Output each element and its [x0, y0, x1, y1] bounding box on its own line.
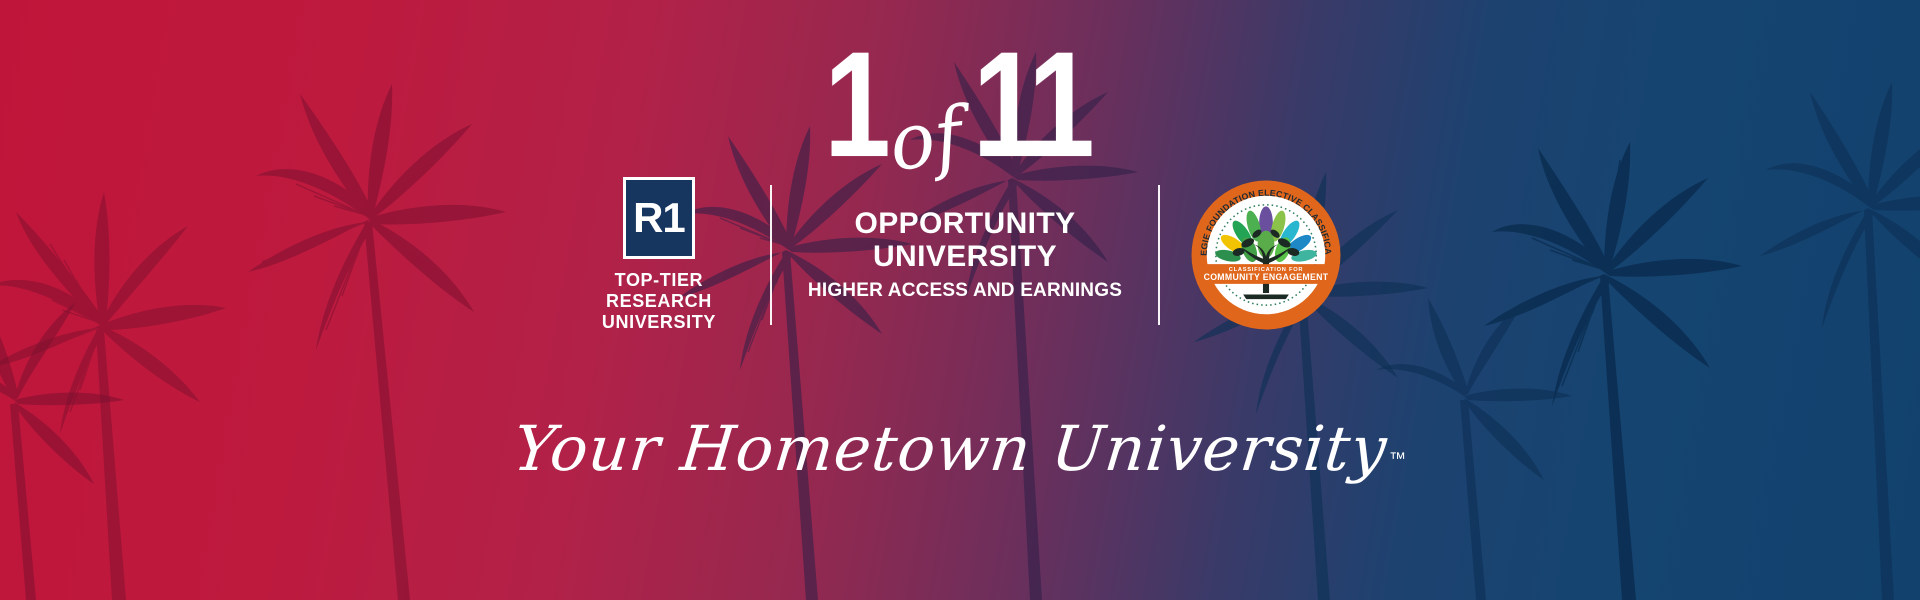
badge-divider-2 [1158, 185, 1160, 325]
carnegie-band-line-2: COMMUNITY ENGAGEMENT [1204, 272, 1329, 282]
tagline-trademark: ™ [1389, 449, 1406, 468]
promotional-banner: 1of11 R1 TOP-TIER RESEARCH UNIVERSITY OP… [0, 0, 1920, 600]
r1-mark-box: R1 [623, 177, 695, 259]
r1-badge: R1 TOP-TIER RESEARCH UNIVERSITY [574, 177, 744, 333]
tagline-text: Your Hometown University [510, 410, 1391, 488]
opportunity-title-line-1: OPPORTUNITY [854, 207, 1075, 240]
headline-number-first: 1 [824, 34, 888, 174]
headline: 1of11 [0, 34, 1920, 174]
opportunity-title-line-2: UNIVERSITY [854, 240, 1075, 273]
r1-caption-line-2: RESEARCH [602, 291, 716, 312]
r1-mark-label: R1 [633, 197, 685, 239]
opportunity-title: OPPORTUNITY UNIVERSITY [854, 207, 1075, 273]
r1-caption-line-1: TOP-TIER [602, 270, 716, 291]
badge-row: R1 TOP-TIER RESEARCH UNIVERSITY OPPORTUN… [0, 175, 1920, 335]
r1-caption-line-3: UNIVERSITY [602, 312, 716, 333]
headline-number-second: 11 [973, 34, 1090, 174]
tagline: Your Hometown University™ [0, 410, 1920, 488]
opportunity-subtitle: HIGHER ACCESS AND EARNINGS [808, 279, 1122, 303]
carnegie-seal-icon: CLASSIFICATION FOR COMMUNITY ENGAGEMENT … [1190, 179, 1342, 331]
badge-divider-1 [770, 185, 772, 325]
carnegie-classification-seal: CLASSIFICATION FOR COMMUNITY ENGAGEMENT … [1186, 179, 1346, 331]
opportunity-university-badge: OPPORTUNITY UNIVERSITY HIGHER ACCESS AND… [798, 207, 1132, 303]
r1-caption: TOP-TIER RESEARCH UNIVERSITY [602, 270, 716, 333]
